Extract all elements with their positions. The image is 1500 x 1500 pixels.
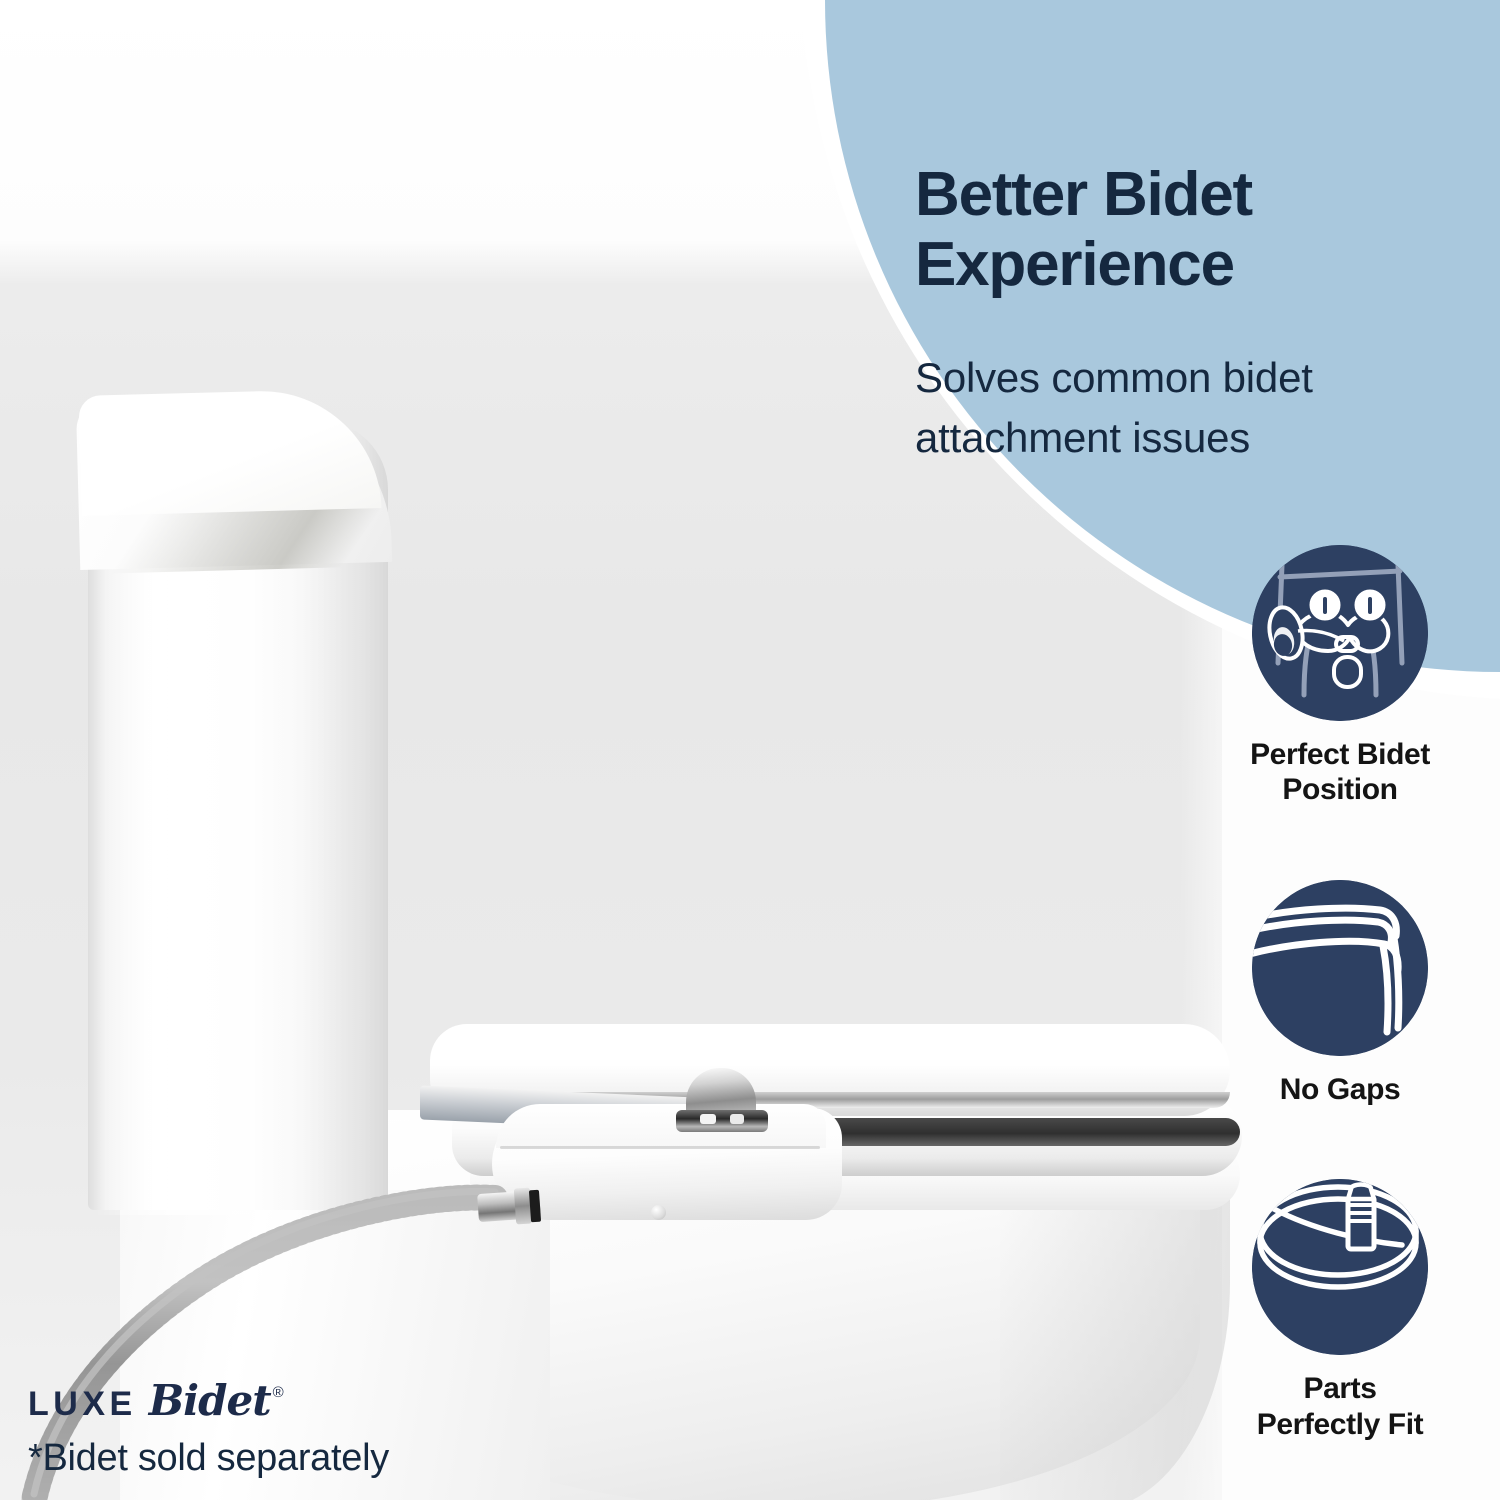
logo-bidet-script: Bidet	[149, 1376, 271, 1425]
bidet-attachment-position-icon	[1252, 545, 1428, 721]
page-subtitle: Solves common bidet attachment issues	[915, 348, 1470, 467]
bidet-attachment-seam	[500, 1146, 820, 1149]
hose-connector-tip	[529, 1190, 541, 1223]
seat-mounting-bolt-icon	[1252, 1179, 1428, 1355]
disclaimer-text: *Bidet sold separately	[28, 1437, 389, 1480]
toilet-seat-flush-fit-icon	[1252, 880, 1428, 1056]
bidet-attachment-nub	[651, 1205, 666, 1220]
feature-item-perfect-bidet-position: Perfect Bidet Position	[1180, 545, 1500, 808]
product-marketing-image: Better Bidet Experience Solves common bi…	[0, 0, 1500, 1500]
feature-item-parts-perfectly-fit: Parts Perfectly Fit	[1180, 1179, 1500, 1442]
chrome-hinge-highlight-right	[730, 1114, 744, 1124]
bidet-attachment-housing-top	[496, 1104, 826, 1148]
feature-label: No Gaps	[1180, 1072, 1500, 1107]
luxe-bidet-logo: LUXE Bidet ®	[28, 1376, 389, 1425]
chrome-hinge-base	[676, 1110, 768, 1132]
feature-label: Parts Perfectly Fit	[1180, 1371, 1500, 1442]
page-title: Better Bidet Experience	[915, 160, 1475, 300]
logo-luxe-wordmark: LUXE	[28, 1385, 137, 1424]
feature-item-no-gaps: No Gaps	[1180, 880, 1500, 1107]
registered-trademark-icon: ®	[273, 1384, 284, 1401]
brand-block: LUXE Bidet ® *Bidet sold separately	[28, 1376, 389, 1480]
toilet-tank-lid-top	[78, 388, 381, 516]
feature-list: Perfect Bidet Position No Gaps	[1180, 545, 1500, 1442]
feature-label: Perfect Bidet Position	[1180, 737, 1500, 808]
chrome-hinge-highlight-left	[700, 1114, 716, 1124]
